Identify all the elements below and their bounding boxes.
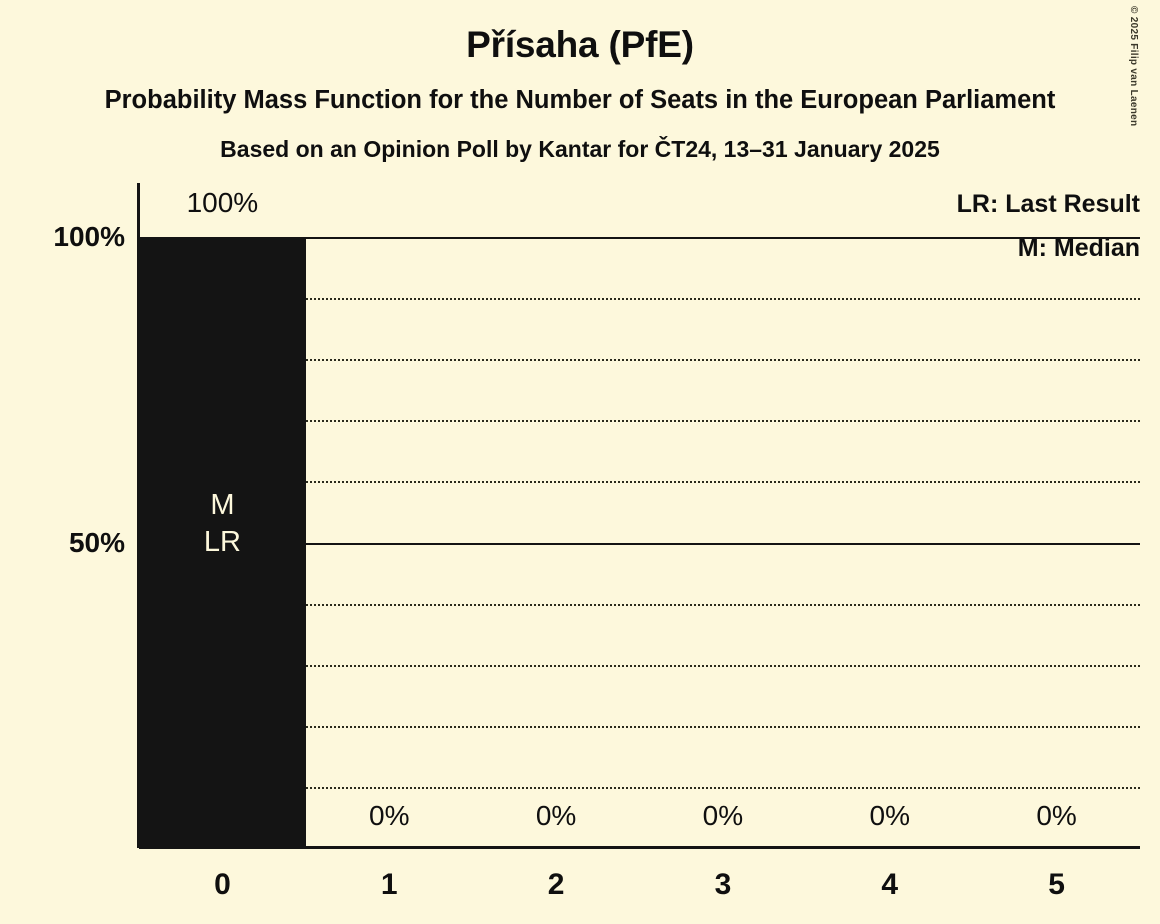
bar-marker-group: MLR	[139, 487, 306, 561]
x-axis-tick-label: 2	[473, 870, 640, 900]
bar-value-label: 0%	[640, 802, 807, 830]
marker-last-result: LR	[139, 524, 306, 561]
legend-last-result: LR: Last Result	[957, 192, 1140, 217]
bar-column[interactable]: 0%	[973, 237, 1140, 848]
bar-column[interactable]: 0%	[473, 237, 640, 848]
bar-value-label: 0%	[806, 802, 973, 830]
x-axis-tick-label: 1	[306, 870, 473, 900]
chart-root: Přísaha (PfE) Probability Mass Function …	[0, 0, 1160, 924]
bar-column[interactable]: 0%	[306, 237, 473, 848]
bar-value-label: 0%	[306, 802, 473, 830]
plot-area: 100%MLR0%0%0%0%0%	[139, 237, 1140, 848]
x-axis-tick-label: 5	[973, 870, 1140, 900]
marker-median: M	[139, 487, 306, 524]
x-axis-tick-label: 0	[139, 870, 306, 900]
copyright-notice: © 2025 Filip van Laenen	[1125, 6, 1139, 126]
x-axis-tick-label: 4	[806, 870, 973, 900]
bar-column[interactable]: 0%	[806, 237, 973, 848]
chart-source-note: Based on an Opinion Poll by Kantar for Č…	[0, 138, 1160, 161]
bar-column[interactable]: 0%	[640, 237, 807, 848]
page-title: Přísaha (PfE)	[0, 26, 1160, 63]
y-axis-tick-label: 100%	[15, 223, 125, 251]
bar-value-label: 0%	[973, 802, 1140, 830]
bar-value-label: 100%	[139, 189, 306, 217]
y-axis-tick-label: 50%	[15, 529, 125, 557]
bar-column[interactable]: 100%MLR	[139, 237, 306, 848]
x-axis-tick-label: 3	[640, 870, 807, 900]
bar-value-label: 0%	[473, 802, 640, 830]
chart-subtitle: Probability Mass Function for the Number…	[0, 88, 1160, 114]
